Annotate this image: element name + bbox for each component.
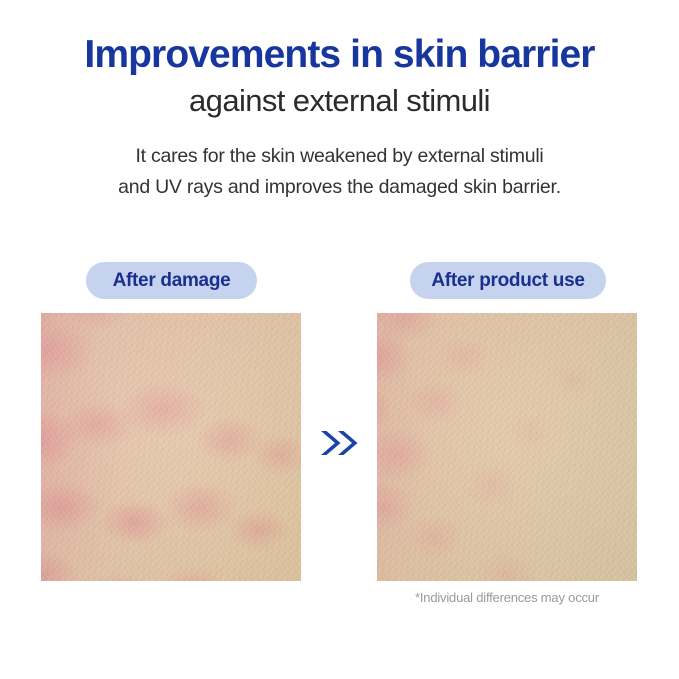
description-line-2: and UV rays and improves the damaged ski… xyxy=(0,172,679,203)
page-subtitle: against external stimuli xyxy=(0,83,679,119)
promo-panel: Improvements in skin barrier against ext… xyxy=(0,0,679,679)
disclaimer-note: *Individual differences may occur xyxy=(377,590,637,605)
double-chevron-right-icon xyxy=(316,420,362,466)
image-skin-after-product-use xyxy=(377,313,637,581)
label-after-damage: After damage xyxy=(86,262,257,299)
label-after-product-use: After product use xyxy=(410,262,606,299)
page-title: Improvements in skin barrier xyxy=(0,33,679,77)
image-skin-after-damage xyxy=(41,313,301,581)
description-line-1: It cares for the skin weakened by extern… xyxy=(0,141,679,172)
skin-vignette-layer xyxy=(41,313,301,581)
description-text: It cares for the skin weakened by extern… xyxy=(0,141,679,203)
skin-vignette-layer xyxy=(377,313,637,581)
